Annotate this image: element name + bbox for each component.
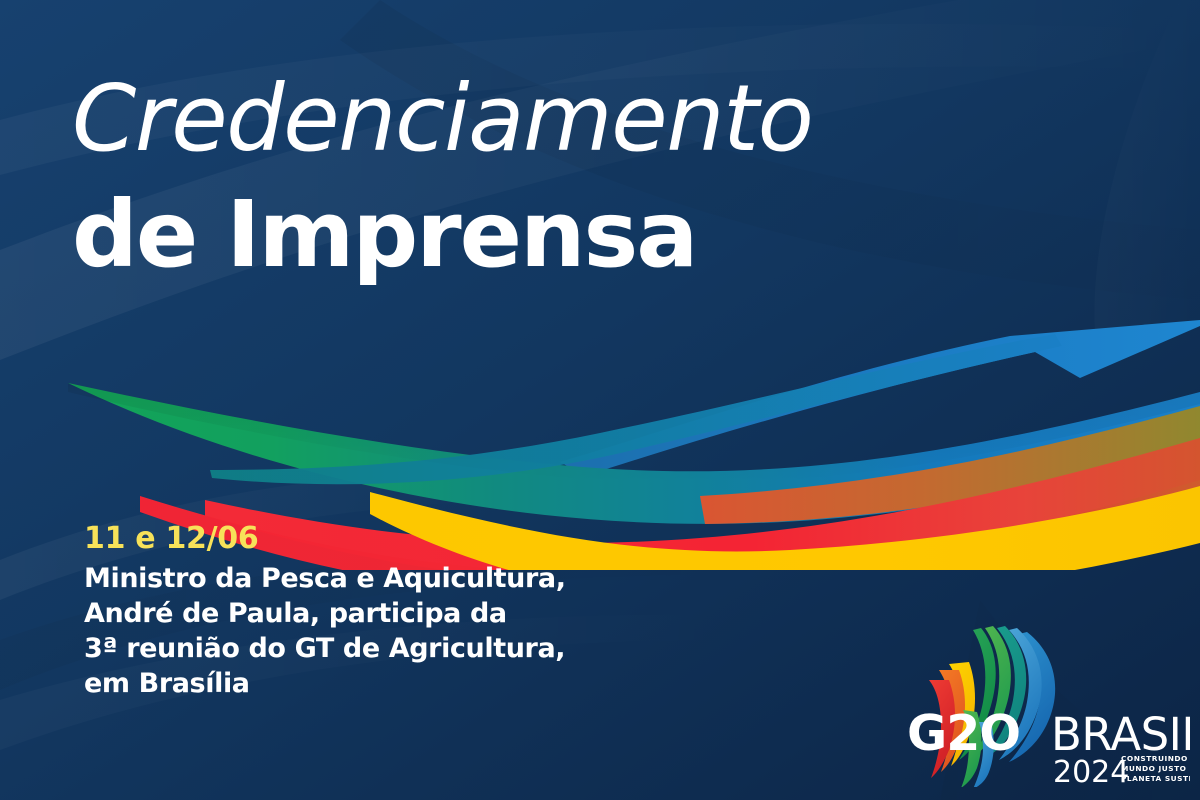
page-title: Credenciamento de Imprensa — [72, 72, 1052, 282]
svg-text:CONSTRUINDO UM: CONSTRUINDO UM — [1121, 754, 1190, 763]
page-title-line-2: de Imprensa — [72, 188, 1052, 282]
event-info-block: 11 e 12/06 Ministro da Pesca e Aquicultu… — [84, 522, 644, 701]
event-description-line-3: 3ª reunião do GT de Agricultura, — [84, 631, 644, 666]
g20-brasil-logo: G2O BRASIL 2024 CONSTRUINDO UM MUNDO JUS… — [905, 622, 1190, 787]
logo-year-text: 2024 — [1053, 755, 1129, 787]
svg-text:MUNDO JUSTO E UM: MUNDO JUSTO E UM — [1121, 764, 1190, 773]
poster-canvas: Credenciamento de Imprensa — [0, 0, 1200, 800]
logo-tagline: CONSTRUINDO UM MUNDO JUSTO E UM PLANETA … — [1121, 754, 1190, 783]
logo-g20-text: G2O — [907, 705, 1020, 762]
event-date: 11 e 12/06 — [84, 522, 644, 556]
page-title-line-1: Credenciamento — [72, 72, 1052, 166]
event-description: Ministro da Pesca e Aquicultura, André d… — [84, 561, 644, 701]
event-description-line-2: André de Paula, participa da — [84, 596, 644, 631]
svg-text:PLANETA SUSTENTÁVEL: PLANETA SUSTENTÁVEL — [1121, 774, 1190, 783]
event-description-line-1: Ministro da Pesca e Aquicultura, — [84, 561, 644, 596]
event-description-line-4: em Brasília — [84, 666, 644, 701]
